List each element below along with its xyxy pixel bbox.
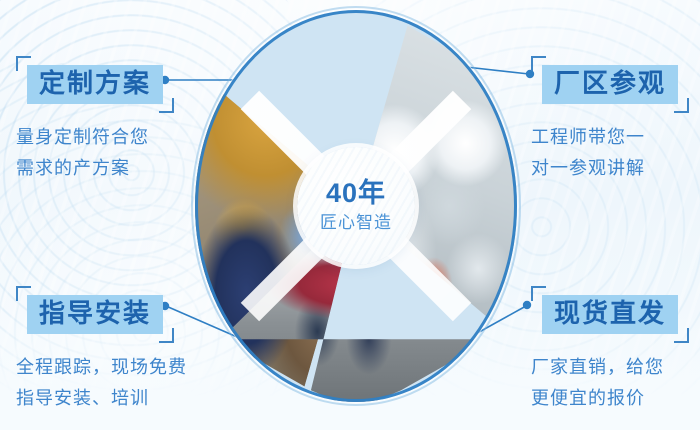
circular-photo-collage: 40年 匠心智造 xyxy=(195,10,517,402)
feature-custom-plan-badge-wrap: 定制方案 xyxy=(16,56,174,113)
corner-bracket-top-left-icon xyxy=(16,286,31,301)
feature-install-guidance-line-2: 指导安装、培训 xyxy=(16,384,187,413)
corner-bracket-bottom-right-icon xyxy=(159,98,174,113)
feature-in-stock-shipping[interactable]: 现货直发 厂家直销，给您 更便宜的报价 xyxy=(531,286,689,413)
promo-banner: 40年 匠心智造 定制方案 量身定制符合您 需求的产方案 厂区参观 工程师带您一… xyxy=(0,0,700,430)
feature-factory-tour-line-2: 对一参观讲解 xyxy=(531,154,689,183)
center-slogan-label: 匠心智造 xyxy=(320,214,392,233)
corner-bracket-top-left-icon xyxy=(16,56,31,71)
feature-factory-tour-badge-wrap: 厂区参观 xyxy=(531,56,689,113)
corner-bracket-top-left-icon xyxy=(531,56,546,71)
corner-bracket-bottom-right-icon xyxy=(674,98,689,113)
feature-in-stock-shipping-line-2: 更便宜的报价 xyxy=(531,384,689,413)
feature-factory-tour[interactable]: 厂区参观 工程师带您一 对一参观讲解 xyxy=(531,56,689,183)
feature-custom-plan-line-2: 需求的产方案 xyxy=(16,154,174,183)
center-years-label: 40年 xyxy=(326,179,386,209)
feature-in-stock-shipping-line-1: 厂家直销，给您 xyxy=(531,353,689,382)
center-badge: 40年 匠心智造 xyxy=(297,147,415,265)
corner-bracket-top-left-icon xyxy=(531,286,546,301)
feature-in-stock-shipping-badge-wrap: 现货直发 xyxy=(531,286,689,343)
feature-install-guidance-line-1: 全程跟踪，现场免费 xyxy=(16,353,187,382)
feature-install-guidance[interactable]: 指导安装 全程跟踪，现场免费 指导安装、培训 xyxy=(16,286,187,413)
feature-factory-tour-line-1: 工程师带您一 xyxy=(531,123,689,152)
corner-bracket-bottom-right-icon xyxy=(674,328,689,343)
feature-install-guidance-title: 指导安装 xyxy=(27,295,163,334)
feature-install-guidance-badge-wrap: 指导安装 xyxy=(16,286,174,343)
feature-factory-tour-title: 厂区参观 xyxy=(542,65,678,104)
feature-custom-plan-title: 定制方案 xyxy=(27,65,163,104)
feature-custom-plan[interactable]: 定制方案 量身定制符合您 需求的产方案 xyxy=(16,56,174,183)
feature-in-stock-shipping-title: 现货直发 xyxy=(542,295,678,334)
corner-bracket-bottom-right-icon xyxy=(159,328,174,343)
feature-custom-plan-line-1: 量身定制符合您 xyxy=(16,123,174,152)
